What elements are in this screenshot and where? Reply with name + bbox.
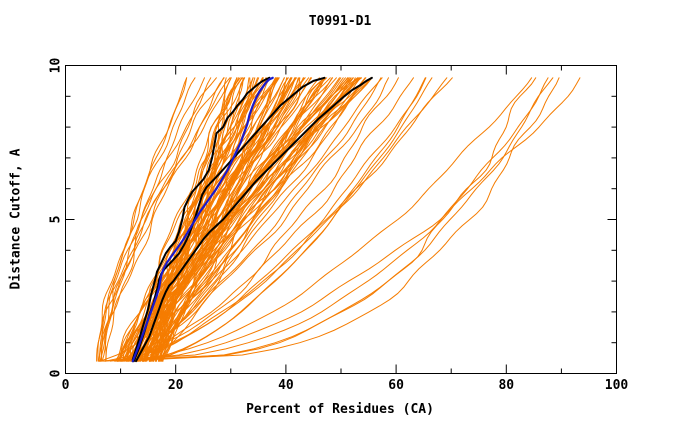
figure-canvas: T0991-D1 Distance Cutoff, A Percent of R… <box>0 0 680 440</box>
x-axis-tick-label: 20 <box>168 378 184 393</box>
x-axis-label: Percent of Residues (CA) <box>0 402 680 417</box>
x-axis-tick-label: 0 <box>62 378 70 393</box>
x-axis-tick-label: 80 <box>498 378 514 393</box>
x-axis-tick-label: 100 <box>605 378 628 393</box>
x-axis-tick-label: 40 <box>278 378 294 393</box>
y-axis-tick-label: 10 <box>49 58 63 74</box>
y-axis-tick-label: 0 <box>49 370 63 378</box>
y-axis-tick-label: 5 <box>49 216 63 224</box>
chart-plot-area <box>0 0 680 440</box>
ensemble-series-group <box>97 78 580 361</box>
y-axis-label: Distance Cutoff, A <box>4 65 28 373</box>
x-axis-tick-label: 60 <box>388 378 404 393</box>
